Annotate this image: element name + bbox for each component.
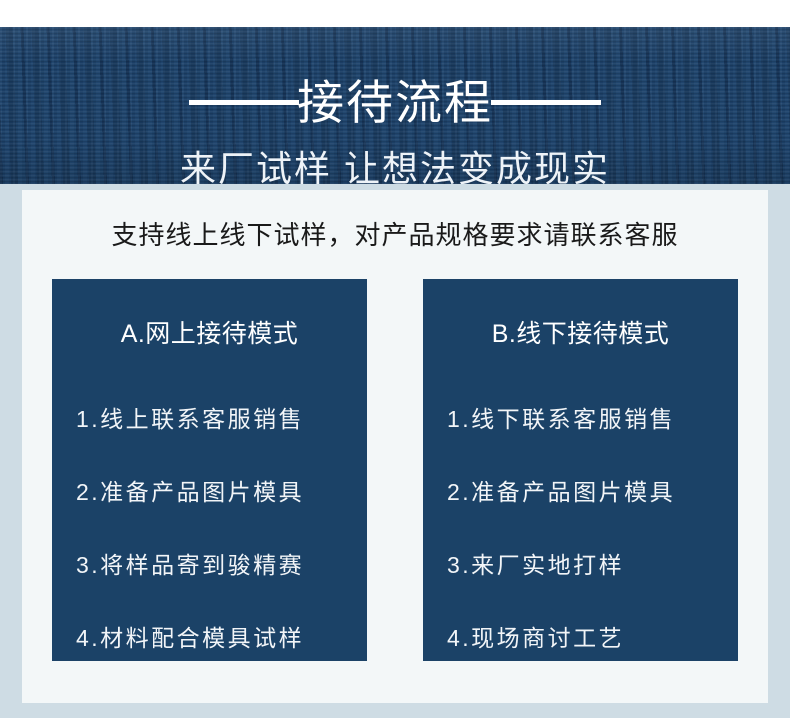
card-title-offline: B.线下接待模式 — [423, 322, 738, 347]
banner-subtitle: 来厂试样 让想法变成现实 — [0, 151, 790, 184]
list-item: 2.准备产品图片模具 — [423, 456, 738, 529]
list-item: 3.将样品寄到骏精赛 — [52, 529, 367, 602]
title-rule-right-icon — [491, 100, 601, 105]
reception-card-offline: B.线下接待模式 1.线下联系客服销售 2.准备产品图片模具 3.来厂实地打样 … — [423, 279, 738, 661]
header-banner: 接待流程 来厂试样 让想法变成现实 — [0, 27, 790, 184]
reception-card-online: A.网上接待模式 1.线上联系客服销售 2.准备产品图片模具 3.将样品寄到骏精… — [52, 279, 367, 661]
card-steps-offline: 1.线下联系客服销售 2.准备产品图片模具 3.来厂实地打样 4.现场商讨工艺 — [423, 383, 738, 675]
list-item: 4.现场商讨工艺 — [423, 602, 738, 675]
list-item: 2.准备产品图片模具 — [52, 456, 367, 529]
list-item: 3.来厂实地打样 — [423, 529, 738, 602]
banner-title-row: 接待流程 — [0, 79, 790, 126]
card-steps-online: 1.线上联系客服销售 2.准备产品图片模具 3.将样品寄到骏精赛 4.材料配合模… — [52, 383, 367, 675]
card-title-online: A.网上接待模式 — [52, 322, 367, 347]
banner-title: 接待流程 — [295, 79, 495, 126]
title-rule-left-icon — [189, 100, 299, 105]
list-item: 4.材料配合模具试样 — [52, 602, 367, 675]
lead-paragraph: 支持线上线下试样，对产品规格要求请联系客服 — [22, 219, 768, 252]
list-item: 1.线上联系客服销售 — [52, 383, 367, 456]
list-item: 1.线下联系客服销售 — [423, 383, 738, 456]
page-root: 接待流程 来厂试样 让想法变成现实 支持线上线下试样，对产品规格要求请联系客服 … — [0, 0, 790, 718]
